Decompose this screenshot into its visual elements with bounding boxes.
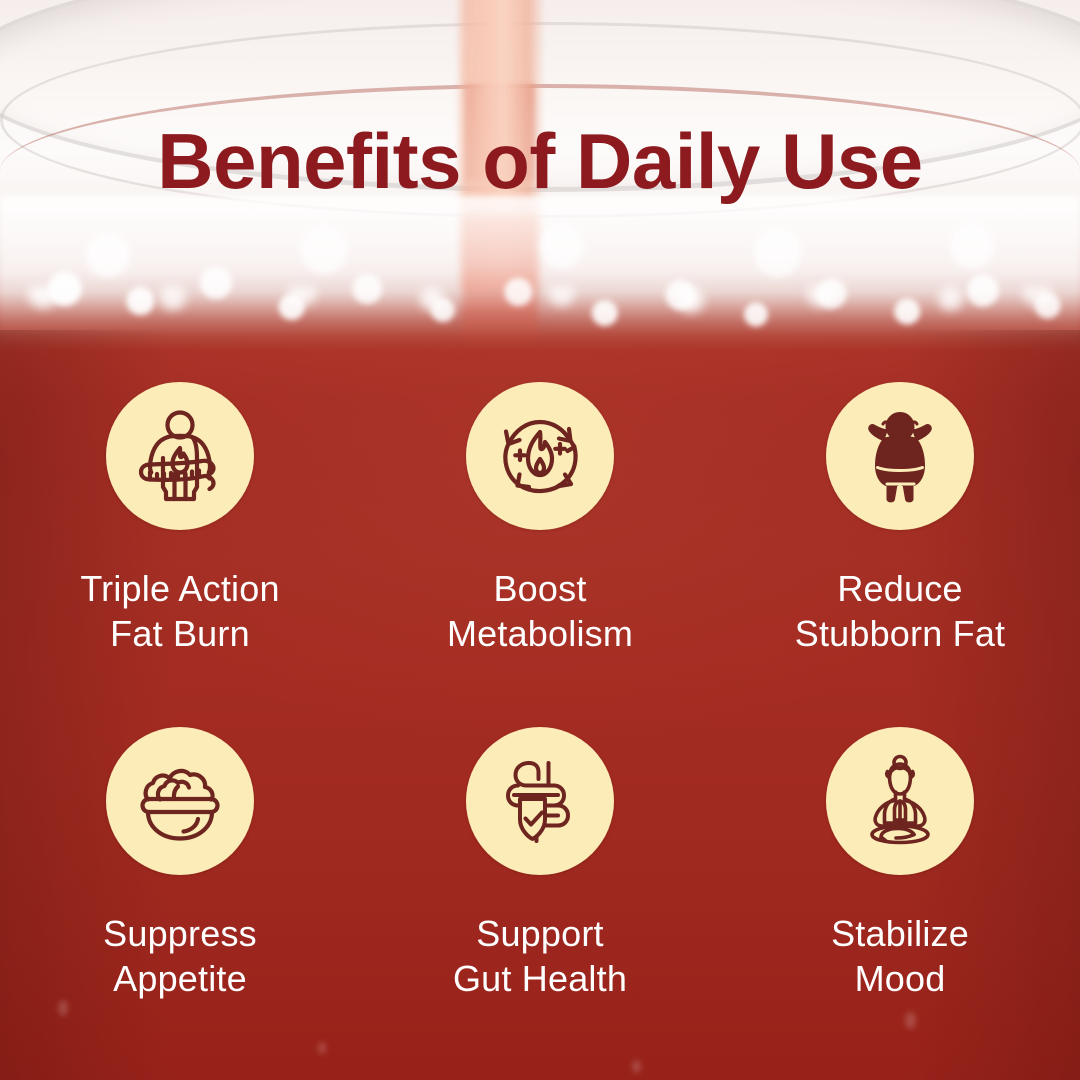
benefit-label: Reduce Stubborn Fat <box>795 566 1006 657</box>
benefit-item-boost-metabolism[interactable]: Boost Metabolism <box>360 382 720 657</box>
meditating-person-lotus-icon <box>848 749 952 853</box>
benefit-item-reduce-stubborn-fat[interactable]: Reduce Stubborn Fat <box>720 382 1080 657</box>
icon-badge <box>106 727 254 875</box>
overweight-person-silhouette-icon <box>848 404 952 508</box>
page-title: Benefits of Daily Use <box>0 122 1080 200</box>
bubble-speck <box>905 1012 916 1029</box>
benefit-item-suppress-appetite[interactable]: Suppress Appetite <box>0 727 360 1002</box>
benefit-label: Triple Action Fat Burn <box>80 566 279 657</box>
bubble-speck <box>632 1060 641 1073</box>
benefit-item-triple-action-fat-burn[interactable]: Triple Action Fat Burn <box>0 382 360 657</box>
benefits-grid: Triple Action Fat Burn <box>0 382 1080 1001</box>
food-bowl-icon <box>128 749 232 853</box>
benefit-label: Boost Metabolism <box>447 566 633 657</box>
benefits-poster: Benefits of Daily Use <box>0 0 1080 1080</box>
icon-badge <box>826 382 974 530</box>
icon-badge <box>466 382 614 530</box>
bubble-speck <box>318 1042 326 1054</box>
benefit-label: Stabilize Mood <box>831 911 969 1002</box>
icon-badge <box>106 382 254 530</box>
intestines-shield-check-icon <box>488 749 592 853</box>
benefit-label: Support Gut Health <box>453 911 627 1002</box>
benefit-item-support-gut-health[interactable]: Support Gut Health <box>360 727 720 1002</box>
benefit-label: Suppress Appetite <box>103 911 257 1002</box>
icon-badge <box>826 727 974 875</box>
flame-recycle-arrows-plus-icon <box>488 404 592 508</box>
benefit-item-stabilize-mood[interactable]: Stabilize Mood <box>720 727 1080 1002</box>
icon-badge <box>466 727 614 875</box>
bubble-speck <box>58 1000 68 1016</box>
body-measuring-tape-flame-icon <box>128 404 232 508</box>
